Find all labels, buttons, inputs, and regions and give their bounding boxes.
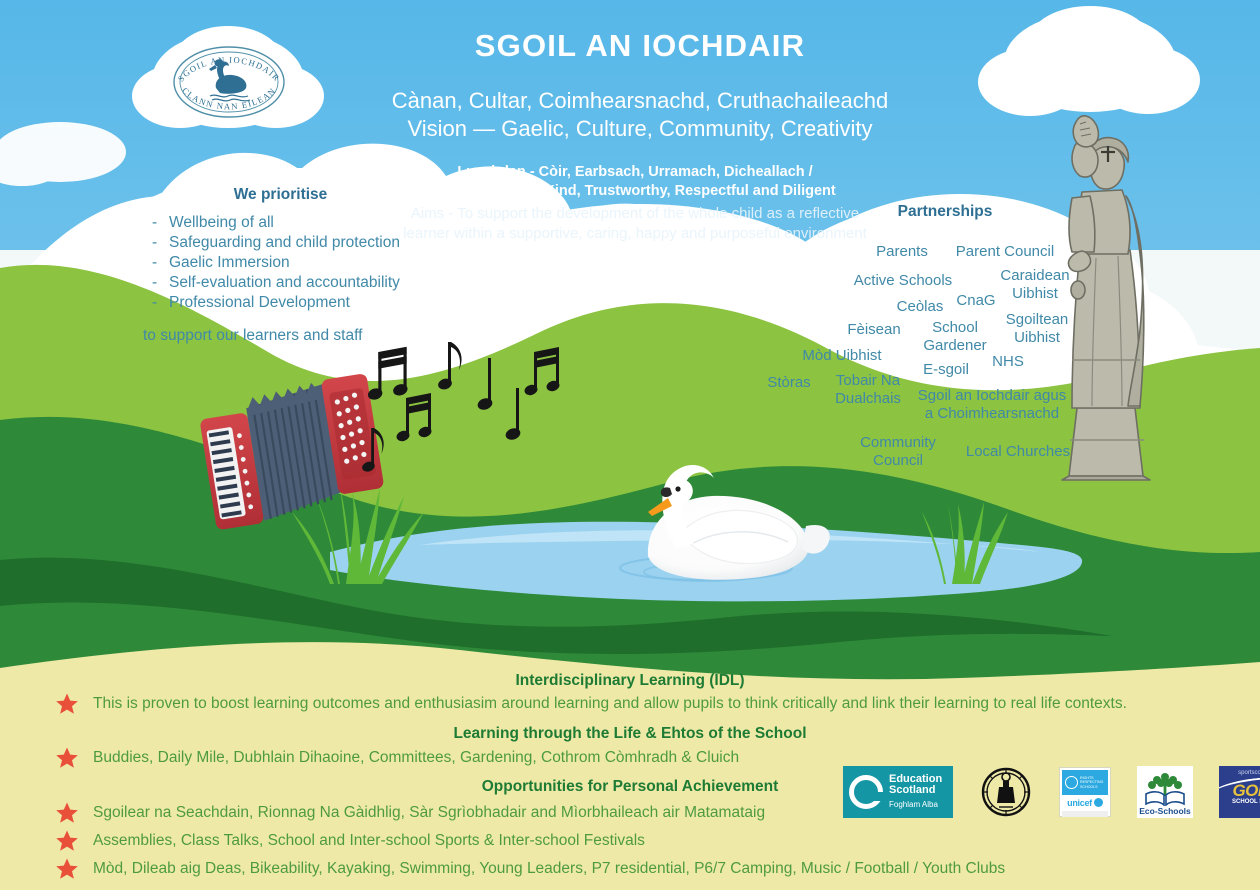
eco-schools-label: Eco-Schools — [1139, 806, 1190, 816]
eco-schools-logo: Eco-Schools — [1137, 766, 1193, 818]
opportunity-row-3: Mòd, Dileab aig Deas, Bikeability, Kayak… — [55, 859, 1115, 881]
unicef-name: unicef — [1067, 798, 1092, 808]
es-line-3: Foghlam Alba — [889, 799, 942, 810]
partnership-item: Active Schools — [838, 272, 968, 290]
partnership-item: NHS — [978, 353, 1038, 371]
es-line-2: Scotland — [889, 785, 942, 796]
dash-bullet: - — [152, 293, 157, 313]
list-item-label: Safeguarding and child protection — [169, 234, 400, 251]
dash-bullet: - — [152, 273, 157, 293]
list-item: -Professional Development — [143, 293, 418, 313]
globe-icon — [1065, 776, 1078, 789]
school-crest-badge-logo — [979, 765, 1033, 819]
life-ethos-text: Buddies, Daily Mile, Dubhlain Dihaoine, … — [93, 748, 739, 768]
opportunity-text: Sgoilear na Seachdain, Rionnag Na Gàidhl… — [93, 803, 765, 823]
partnership-item: Tobair Na Dualchais — [820, 372, 916, 408]
partnerships-heading: Partnerships — [800, 203, 1090, 221]
vision-english: Vision — Gaelic, Culture, Community, Cre… — [310, 116, 970, 142]
partnership-item: Sgoil an Iochdair agus a Choimhearsnachd — [912, 387, 1072, 423]
list-item: -Safeguarding and child protection — [143, 233, 418, 253]
partnership-item: Fèisean — [832, 321, 916, 339]
unicef-globe-icon — [1094, 798, 1103, 807]
school-sport-label: SCHOOL SPORT — [1219, 799, 1260, 805]
values-line-gaelic: Luachdan - Còir, Earbsach, Urramach, Dic… — [395, 163, 875, 182]
partnerships-word-cloud: ParentsParent CouncilActive SchoolsCarai… — [800, 221, 1090, 481]
partnership-item: Stòras — [752, 374, 826, 392]
star-icon — [55, 801, 79, 825]
list-item: -Gaelic Immersion — [143, 253, 418, 273]
opportunity-text: Mòd, Dileab aig Deas, Bikeability, Kayak… — [93, 859, 1005, 879]
list-item-label: Professional Development — [169, 294, 350, 311]
life-ethos-heading: Learning through the Life & Ehtos of the… — [0, 725, 1260, 743]
education-scotland-e-icon — [849, 775, 883, 809]
partner-logo-strip: Education Scotland Foghlam Alba RIGHTS R… — [843, 765, 1260, 819]
dash-bullet: - — [152, 233, 157, 253]
values-line-english: Values - We are Kind, Trustworthy, Respe… — [395, 182, 875, 201]
sportscotland-name: sportscotland — [1219, 770, 1260, 776]
poster-canvas: SGOIL AN IOCHDAIR CLANN NAN EILEAN SGOIL… — [0, 0, 1260, 890]
partnership-item: Parent Council — [940, 243, 1070, 261]
education-scotland-logo: Education Scotland Foghlam Alba — [843, 766, 953, 818]
list-item-label: Self-evaluation and accountability — [169, 274, 400, 291]
we-prioritise-footer: to support our learners and staff — [143, 327, 418, 345]
unicef-wordmark: unicef — [1062, 795, 1108, 810]
star-icon — [55, 829, 79, 853]
education-scotland-text: Education Scotland Foghlam Alba — [889, 774, 942, 810]
page-title: SGOIL AN IOCHDAIR — [330, 28, 950, 64]
unicef-rights-respecting-schools-logo: RIGHTS RESPECTING SCHOOLS unicef — [1059, 767, 1111, 817]
partnership-item: School Gardener — [910, 319, 1000, 355]
rrs-text: RIGHTS RESPECTING SCHOOLS — [1080, 776, 1103, 789]
partnership-item: Mòd Uibhist — [784, 347, 900, 365]
partnership-item: E-sgoil — [908, 361, 984, 379]
gold-award-label: GOLD — [1219, 781, 1260, 801]
list-item-label: Wellbeing of all — [169, 214, 274, 231]
star-icon — [55, 857, 79, 881]
partnership-item: CnaG — [946, 292, 1006, 310]
idl-heading: Interdisciplinary Learning (IDL) — [0, 672, 1260, 690]
dash-bullet: - — [152, 213, 157, 233]
idl-row: This is proven to boost learning outcome… — [55, 694, 1225, 716]
idl-text: This is proven to boost learning outcome… — [93, 694, 1127, 714]
we-prioritise-block: We prioritise -Wellbeing of all -Safegua… — [143, 186, 418, 345]
rrs-banner: RIGHTS RESPECTING SCHOOLS — [1062, 770, 1108, 795]
opportunity-row-1: Sgoilear na Seachdain, Rionnag Na Gàidhl… — [55, 803, 875, 825]
opportunity-row-2: Assemblies, Class Talks, School and Inte… — [55, 831, 875, 853]
list-item: -Self-evaluation and accountability — [143, 273, 418, 293]
sportscotland-gold-logo: sportscotland GOLD SCHOOL SPORT — [1219, 766, 1260, 818]
partnerships-block: Partnerships ParentsParent CouncilActive… — [800, 203, 1090, 481]
star-icon — [55, 746, 79, 770]
vision-gaelic: Cànan, Cultar, Coimhearsnachd, Cruthacha… — [310, 88, 970, 114]
eco-schools-book-tree-icon — [1144, 772, 1186, 806]
dash-bullet: - — [152, 253, 157, 273]
unicef-footer-bar — [1062, 811, 1108, 817]
list-item-label: Gaelic Immersion — [169, 254, 290, 271]
star-icon — [55, 692, 79, 716]
list-item: -Wellbeing of all — [143, 213, 418, 233]
partnership-item: Local Churches — [948, 443, 1088, 461]
we-prioritise-list: -Wellbeing of all -Safeguarding and chil… — [143, 213, 418, 313]
partnership-item: Community Council — [848, 434, 948, 470]
partnership-item: Parents — [862, 243, 942, 261]
we-prioritise-heading: We prioritise — [143, 186, 418, 204]
opportunity-text: Assemblies, Class Talks, School and Inte… — [93, 831, 645, 851]
partnership-item: Sgoiltean Uibhist — [989, 311, 1085, 347]
